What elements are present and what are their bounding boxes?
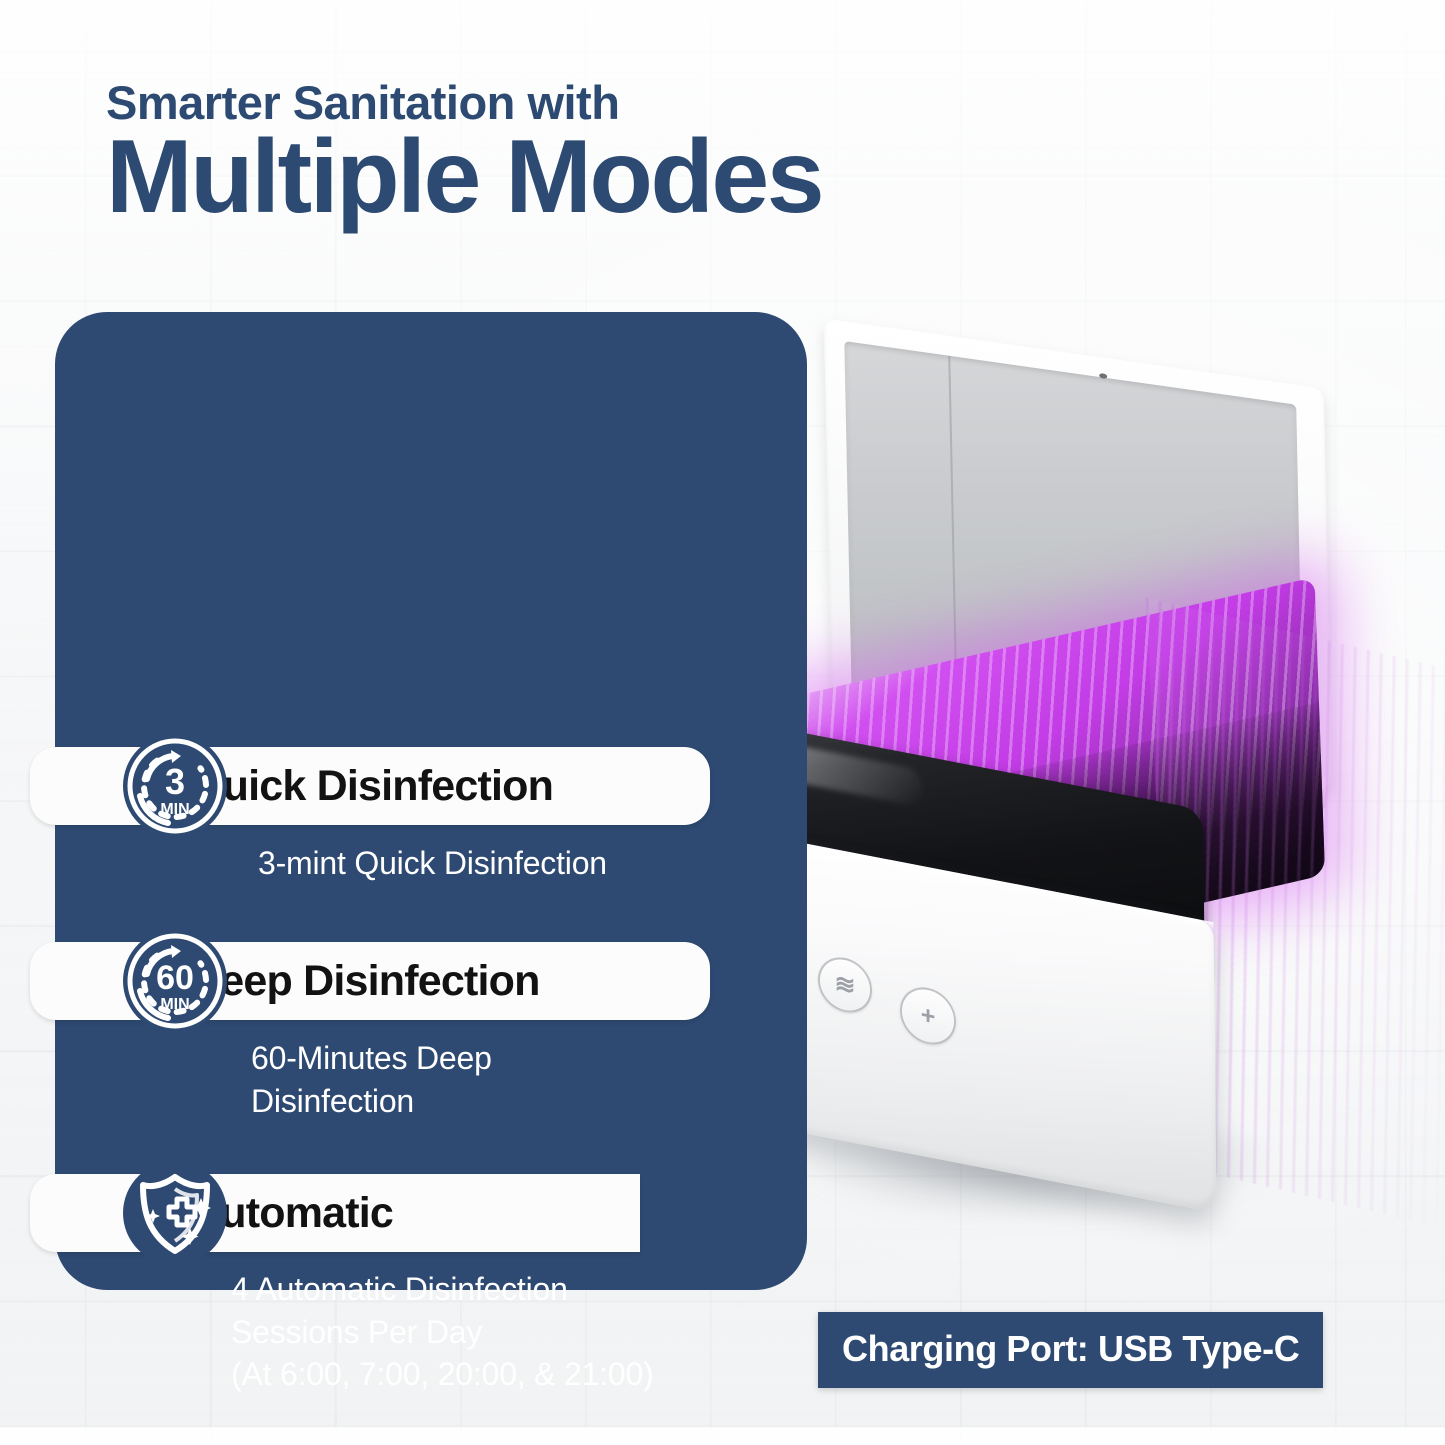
timer-3-min-icon: 3 MIN	[123, 734, 227, 838]
feature-description: 3-mint Quick Disinfection	[258, 842, 607, 885]
mode-icon: ≋	[835, 970, 856, 999]
feature-description: 4 Automatic Disinfection Sessions Per Da…	[231, 1268, 654, 1396]
features-panel: Quick Disinfection 3 MIN 3-mint Quick Di…	[55, 312, 807, 1290]
feature-title: Quick Disinfection	[190, 762, 553, 811]
svg-text:MIN: MIN	[160, 996, 189, 1013]
timer-60-min-icon: 60 MIN	[123, 929, 227, 1033]
feature-description: 60-Minutes Deep Disinfection	[251, 1037, 492, 1122]
lid-seam-line	[948, 356, 957, 711]
status-badge-charging-port: Charging Port: USB Type-C	[818, 1312, 1323, 1388]
svg-text:3: 3	[165, 761, 185, 802]
page-title: Smarter Sanitation with Multiple Modes	[106, 78, 822, 230]
feature-title: Deep Disinfection	[190, 957, 540, 1006]
plus-icon: +	[921, 1002, 936, 1030]
headline-line-2: Multiple Modes	[106, 124, 822, 230]
shield-medical-cross-icon	[123, 1161, 227, 1265]
svg-text:MIN: MIN	[160, 801, 189, 818]
svg-text:60: 60	[156, 959, 194, 997]
feature-title-pill: Automatic	[30, 1174, 640, 1252]
